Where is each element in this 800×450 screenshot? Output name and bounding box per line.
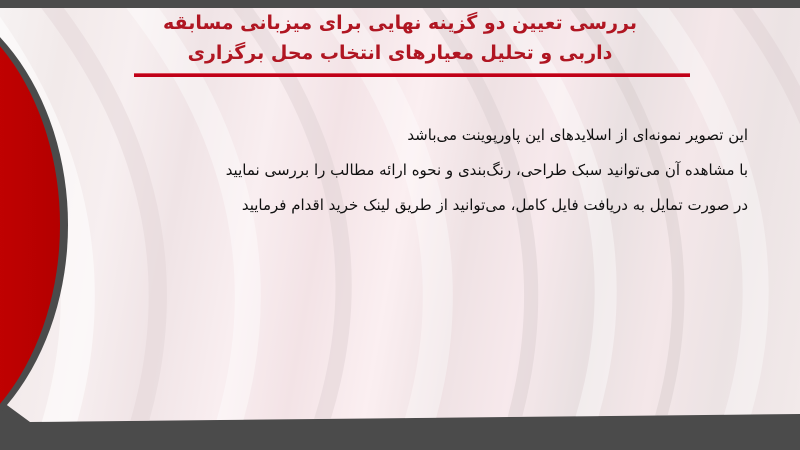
title-line-2: داربی و تحلیل معیارهای انتخاب محل برگزار… [0, 38, 800, 68]
body-line-3: در صورت تمایل به دریافت فایل کامل، می‌تو… [48, 188, 748, 223]
body-line-1: این تصویر نمونه‌ای از اسلایدهای این پاور… [48, 118, 748, 153]
title-line-1: بررسی تعیین دو گزینه نهایی برای میزبانی … [0, 8, 800, 38]
body-line-2: با مشاهده آن می‌توانید سبک طراحی، رنگ‌بن… [48, 153, 748, 188]
presentation-slide: بررسی تعیین دو گزینه نهایی برای میزبانی … [0, 0, 800, 450]
slide-title: بررسی تعیین دو گزینه نهایی برای میزبانی … [0, 8, 800, 68]
slide-body: این تصویر نمونه‌ای از اسلایدهای این پاور… [48, 118, 748, 223]
title-underline-rule [134, 73, 690, 77]
